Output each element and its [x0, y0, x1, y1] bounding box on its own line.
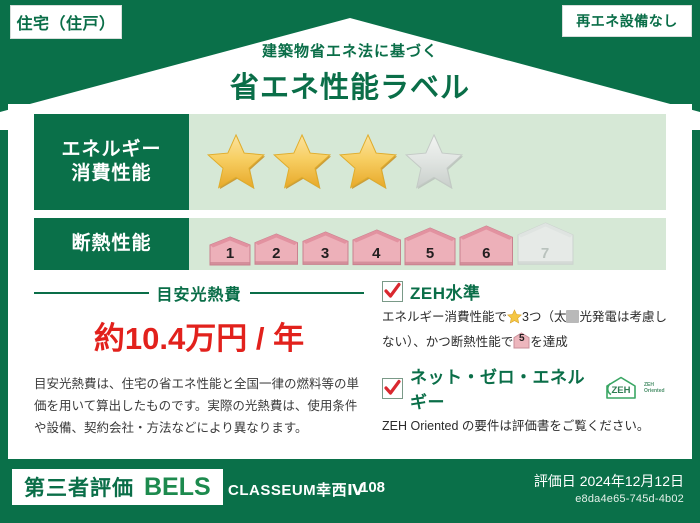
- redacted-character: [566, 310, 579, 323]
- bels-japanese-label: 第三者評価: [24, 472, 134, 502]
- utility-cost-amount: 約10.4万円 / 年: [34, 313, 364, 358]
- insulation-level-number: 5: [404, 245, 456, 262]
- energy-label-line2: 消費性能: [71, 162, 151, 186]
- utility-cost-note: 目安光熱費は、住宅の省エネ性能と全国一律の燃料等の単価を用いて算出したものです。…: [34, 374, 364, 440]
- net-zero-body: ZEH Oriented の要件は評価書をご覧ください。: [382, 416, 674, 438]
- insulation-level-active: 6: [459, 225, 514, 266]
- badge-dwelling-label: 住宅（住戸）: [16, 10, 115, 34]
- rule-right: [250, 292, 365, 294]
- inline-star-icon: [507, 309, 522, 332]
- energy-performance-label: エネルギー 消費性能: [34, 114, 189, 210]
- energy-performance-value: [189, 114, 666, 210]
- utility-cost-heading: 目安光熱費: [34, 281, 364, 305]
- footer-bar: 第三者評価 BELS CLASSEUM幸西Ⅳ 108 評価日 2024年12月1…: [0, 461, 700, 523]
- badge-dwelling-type: 住宅（住戸）: [10, 5, 122, 39]
- inline-insulation-badge: 5: [513, 332, 530, 349]
- evaluation-id: e8da4e65-745d-4b02: [575, 493, 684, 505]
- bels-energy-label: 住宅（住戸） 再エネ設備なし 建築物省エネ法に基づく 省エネ性能ラベル エネルギ…: [0, 0, 700, 523]
- insulation-label-text: 断熱性能: [71, 232, 151, 256]
- lower-section: 目安光熱費 約10.4万円 / 年 目安光熱費は、住宅の省エネ性能と全国一律の燃…: [34, 279, 674, 449]
- badge-renewable-label: 再エネ設備なし: [576, 11, 678, 31]
- insulation-level-active: 2: [254, 233, 299, 265]
- star-empty-icon: [403, 131, 465, 193]
- insulation-level-number: 1: [209, 245, 251, 262]
- inline-badge-number: 5: [513, 330, 530, 347]
- label-title: 建築物省エネ法に基づく 省エネ性能ラベル: [0, 40, 700, 106]
- zeh-standard-block: ZEH水準 エネルギー消費性能で 3つ（太光発電は考慮しない）、かつ断熱性能で …: [382, 279, 674, 353]
- insulation-performance-row: 断熱性能 1234567: [34, 218, 666, 270]
- svg-text:ZEH: ZEH: [612, 385, 631, 396]
- insulation-level-scale: 1234567: [205, 222, 574, 265]
- certification-column: ZEH水準 エネルギー消費性能で 3つ（太光発電は考慮しない）、かつ断熱性能で …: [364, 279, 674, 449]
- title-subtitle: 建築物省エネ法に基づく: [0, 40, 700, 61]
- insulation-level-number: 4: [352, 245, 402, 262]
- energy-label-line1: エネルギー: [61, 138, 161, 162]
- star-rating: [205, 131, 465, 193]
- title-main: 省エネ性能ラベル: [0, 64, 700, 106]
- net-zero-title-line: ネット・ゼロ・エネルギー ZEH ZEH Oriented: [382, 363, 674, 413]
- insulation-level-number: 6: [459, 245, 514, 262]
- energy-performance-row: エネルギー 消費性能: [34, 114, 666, 210]
- zeh-body-part3: を達成: [530, 335, 568, 349]
- utility-cost-heading-text: 目安光熱費: [157, 281, 242, 305]
- zeh-body-part1: エネルギー消費性能で: [382, 310, 507, 324]
- label-card: エネルギー 消費性能 断熱性能 1234567 目安光熱費: [8, 104, 692, 459]
- net-zero-energy-block: ネット・ゼロ・エネルギー ZEH ZEH Oriented: [382, 363, 674, 438]
- insulation-performance-value: 1234567: [189, 218, 666, 270]
- insulation-level-number: 3: [302, 245, 349, 262]
- insulation-level-active: 4: [352, 229, 402, 266]
- star-filled-icon: [271, 131, 333, 193]
- project-name: CLASSEUM幸西Ⅳ: [228, 479, 364, 500]
- utility-cost-column: 目安光熱費 約10.4万円 / 年 目安光熱費は、住宅の省エネ性能と全国一律の燃…: [34, 279, 364, 449]
- star-filled-icon: [337, 131, 399, 193]
- insulation-level-active: 5: [404, 227, 456, 266]
- insulation-level-inactive: 7: [517, 222, 574, 265]
- insulation-performance-label: 断熱性能: [34, 218, 189, 270]
- zeh-standard-title: ZEH水準: [410, 279, 481, 304]
- net-zero-title: ネット・ゼロ・エネルギー: [410, 363, 595, 413]
- zeh-standard-body: エネルギー消費性能で 3つ（太光発電は考慮しない）、かつ断熱性能で 5 を達成: [382, 307, 674, 353]
- project-unit-number: 108: [360, 479, 385, 496]
- insulation-level-number: 2: [254, 245, 299, 262]
- star-filled-icon: [205, 131, 267, 193]
- checkbox-checked-icon: [382, 378, 403, 399]
- insulation-level-active: 3: [302, 231, 349, 265]
- insulation-level-number: 7: [517, 245, 574, 262]
- zeh-body-star-count: 3つ（太: [522, 310, 566, 324]
- zeh-oriented-logo-icon: ZEH ZEH Oriented: [602, 375, 674, 401]
- evaluation-date: 評価日 2024年12月12日: [534, 471, 684, 491]
- insulation-level-active: 1: [209, 236, 251, 266]
- zeh-standard-title-line: ZEH水準: [382, 279, 674, 304]
- rule-left: [34, 292, 149, 294]
- checkbox-checked-icon: [382, 281, 403, 302]
- badge-renewable-equipment: 再エネ設備なし: [562, 5, 692, 37]
- bels-logo-text: BELS: [144, 473, 211, 502]
- svg-text:Oriented: Oriented: [644, 388, 665, 394]
- bels-certification-box: 第三者評価 BELS: [12, 469, 223, 505]
